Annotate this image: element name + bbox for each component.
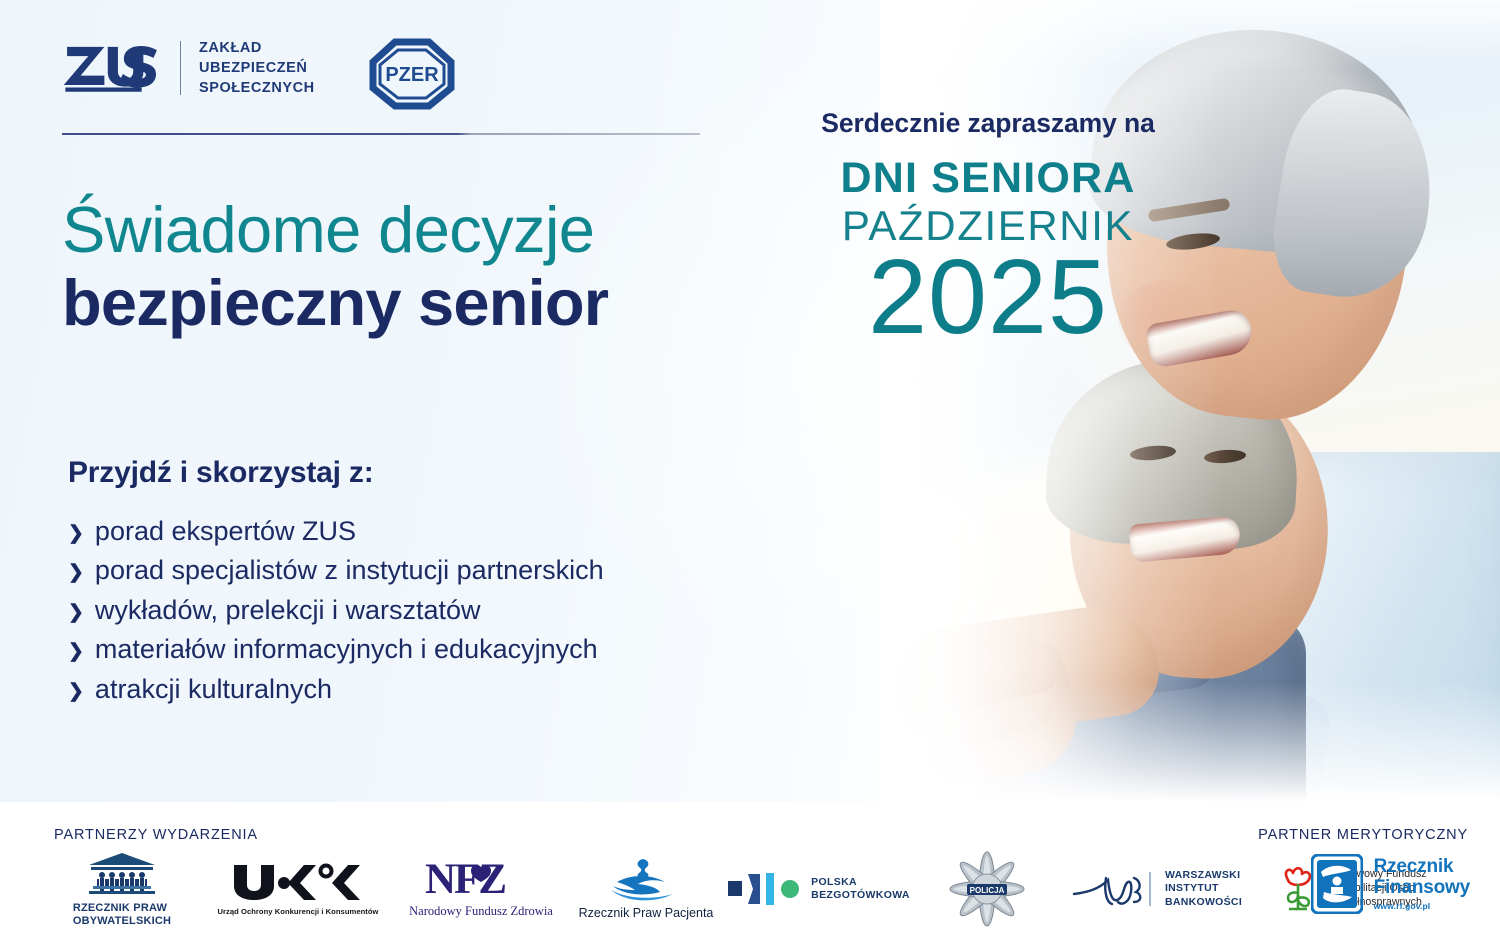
partner-name-line-3: BANKOWOŚCI <box>1165 896 1242 910</box>
zus-name-line-3: SPOŁECZNYCH <box>199 78 315 98</box>
partner-name-uokik: Urząd Ochrony Konkurencji i Konsumentów <box>217 907 378 916</box>
partner-name-line-2: OBYWATELSKICH <box>73 915 171 928</box>
zus-wordmark-icon <box>62 39 162 97</box>
list-item: ❯ materiałów informacyjnych i edukacyjny… <box>68 630 604 669</box>
partner-logo-policja[interactable]: POLICJA <box>912 850 1062 928</box>
poster-root: ZAKŁAD UBEZPIECZEŃ SPOŁECZNYCH PZER Świa… <box>0 0 1500 951</box>
bezgotowkowa-bars-icon <box>728 872 800 906</box>
merit-partner-name-line-2: Finansowy <box>1374 878 1470 899</box>
zus-logo-lockup: ZAKŁAD UBEZPIECZEŃ SPOŁECZNYCH <box>62 38 315 98</box>
list-item-label: wykładów, prelekcji i warsztatów <box>95 591 481 630</box>
list-item: ❯ wykładów, prelekcji i warsztatów <box>68 591 604 630</box>
partner-name-nfz: Narodowy Fundusz Zdrowia <box>409 904 553 919</box>
chevron-right-icon: ❯ <box>68 563 84 582</box>
headline-line-2: bezpieczny senior <box>62 267 608 339</box>
merit-partner-url: www.rf.gov.pl <box>1374 901 1470 911</box>
partner-logo-wib[interactable]: WARSZAWSKI INSTYTUT BANKOWOŚCI <box>1062 868 1252 910</box>
rpp-wave-icon <box>603 858 689 902</box>
event-invite-text: Serdecznie zapraszamy na <box>800 108 1176 139</box>
event-block: Serdecznie zapraszamy na DNI SENIORA PAŹ… <box>800 108 1176 352</box>
partner-name-rpo: RZECZNIK PRAW OBYWATELSKICH <box>73 902 171 928</box>
list-item: ❯ porad specjalistów z instytucji partne… <box>68 551 604 590</box>
chevron-right-icon: ❯ <box>68 524 84 543</box>
poster-stage: ZAKŁAD UBEZPIECZEŃ SPOŁECZNYCH PZER Świa… <box>0 0 1500 802</box>
list-item: ❯ atrakcji kulturalnych <box>68 670 604 709</box>
list-item: ❯ porad ekspertów ZUS <box>68 512 604 551</box>
merit-partner-text: Rzecznik Finansowy www.rf.gov.pl <box>1374 857 1470 912</box>
partner-name-line-2: BEZGOTÓWKOWA <box>811 889 910 902</box>
list-item-label: materiałów informacyjnych i edukacyjnych <box>95 630 598 669</box>
page-title: Świadome decyzje bezpieczny senior <box>62 196 608 338</box>
temple-pediment-icon <box>85 851 159 897</box>
chevron-right-icon: ❯ <box>68 603 84 622</box>
partner-name-wib: WARSZAWSKI INSTYTUT BANKOWOŚCI <box>1165 869 1242 910</box>
list-item-label: atrakcji kulturalnych <box>95 670 332 709</box>
wib-script-icon <box>1072 868 1156 910</box>
partner-name-line-1: WARSZAWSKI <box>1165 869 1242 883</box>
merit-partner-logo-rf[interactable]: Rzecznik Finansowy www.rf.gov.pl <box>1311 854 1470 914</box>
zus-name-line-2: UBEZPIECZEŃ <box>199 58 315 78</box>
partner-name-polska-bezgotowkowa: POLSKA BEZGOTÓWKOWA <box>811 876 910 902</box>
brand-header: ZAKŁAD UBEZPIECZEŃ SPOŁECZNYCH PZER <box>62 38 455 110</box>
partner-logo-rpp[interactable]: Rzecznik Praw Pacjenta <box>566 858 726 920</box>
partner-logo-polska-bezgotowkowa[interactable]: POLSKA BEZGOTÓWKOWA <box>726 872 912 906</box>
merit-partner-label: PARTNER MERYTORYCZNY <box>1258 827 1468 843</box>
cta-heading: Przyjdź i skorzystaj z: <box>68 456 604 490</box>
cta-block: Przyjdź i skorzystaj z: ❯ porad ekspertó… <box>68 456 604 709</box>
header-divider-rule <box>62 133 700 135</box>
policja-label: POLICJA <box>970 886 1005 895</box>
partner-logo-uokik[interactable]: Urząd Ochrony Konkurencji i Konsumentów <box>200 862 396 916</box>
chevron-right-icon: ❯ <box>68 642 84 661</box>
uokik-mark-icon <box>230 862 366 902</box>
rf-hands-person-icon <box>1311 854 1363 914</box>
zus-name-line-1: ZAKŁAD <box>199 38 315 58</box>
merit-partner-name-line-1: Rzecznik <box>1374 857 1470 878</box>
pzer-label: PZER <box>385 64 439 86</box>
partners-label: PARTNERZY WYDARZENIA <box>54 827 258 843</box>
partner-logo-row: RZECZNIK PRAW OBYWATELSKICH Urząd Ochron… <box>44 850 1452 928</box>
event-year: 2025 <box>800 242 1176 352</box>
partner-name-line-1: RZECZNIK PRAW <box>73 902 171 915</box>
partner-name-line-1: POLSKA <box>811 876 910 889</box>
police-star-badge-icon: POLICJA <box>946 850 1028 928</box>
event-title: DNI SENIORA <box>800 157 1176 200</box>
partners-footer: PARTNERZY WYDARZENIA PARTNER MERYTORYCZN… <box>0 802 1500 951</box>
pzer-badge-icon: PZER <box>369 38 455 110</box>
list-item-label: porad ekspertów ZUS <box>95 512 356 551</box>
nfz-letters: NFZ <box>425 859 505 901</box>
partner-name-line-2: INSTYTUT <box>1165 882 1242 896</box>
partner-name-rpp: Rzecznik Praw Pacjenta <box>579 906 714 920</box>
brand-divider <box>180 41 181 95</box>
headline-line-1: Świadome decyzje <box>62 196 608 265</box>
partner-logo-nfz[interactable]: NFZ Narodowy Fundusz Zdrowia <box>396 859 566 919</box>
list-item-label: porad specjalistów z instytucji partners… <box>95 551 604 590</box>
cta-list: ❯ porad ekspertów ZUS ❯ porad specjalist… <box>68 512 604 709</box>
chevron-right-icon: ❯ <box>68 682 84 701</box>
partner-logo-rpo[interactable]: RZECZNIK PRAW OBYWATELSKICH <box>44 851 200 928</box>
nfz-mark-icon: NFZ <box>425 859 537 901</box>
photo-bottom-fade <box>880 682 1500 802</box>
zus-full-name: ZAKŁAD UBEZPIECZEŃ SPOŁECZNYCH <box>199 38 315 98</box>
